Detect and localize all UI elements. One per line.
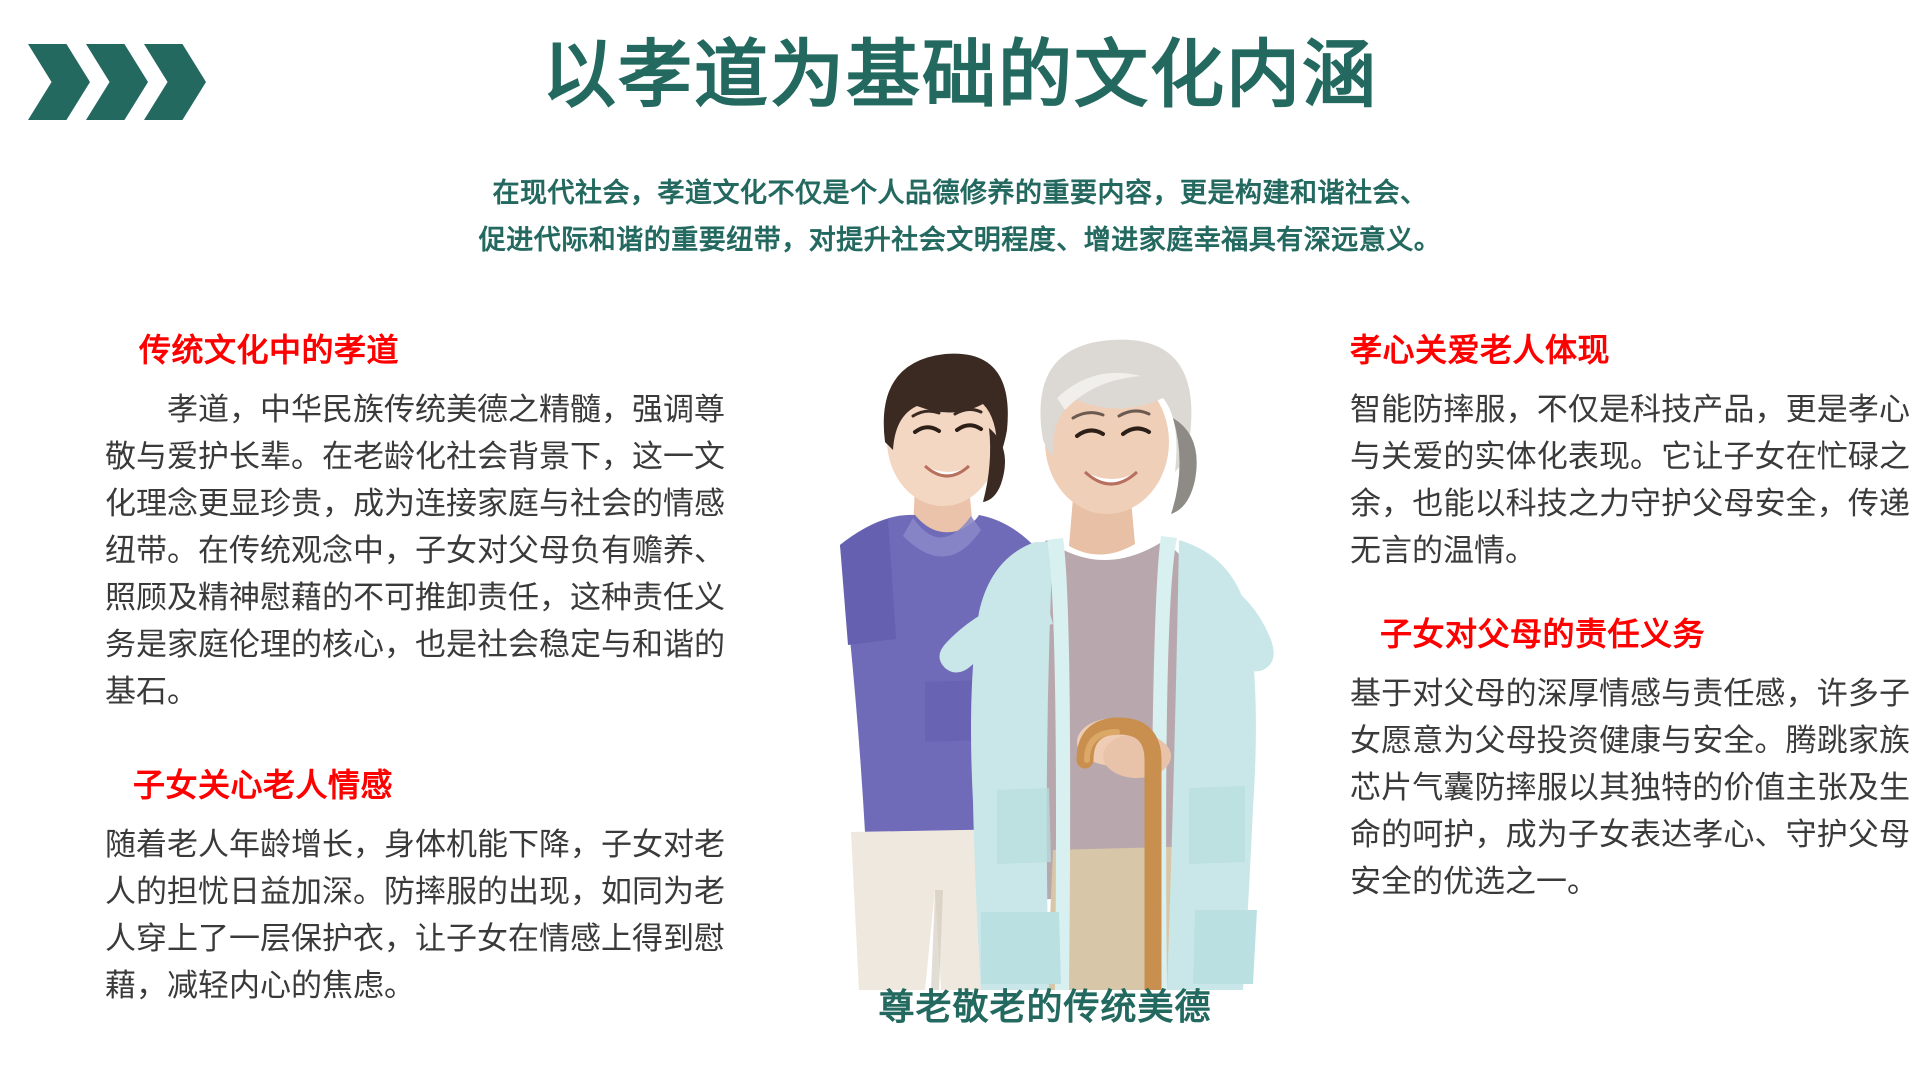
- right-column: 孝心关爱老人体现 智能防摔服，不仅是科技产品，更是孝心与关爱的实体化表现。它让子…: [1350, 330, 1910, 911]
- section-traditional-filial-piety: 传统文化中的孝道 孝道，中华民族传统美德之精髓，强调尊敬与爱护长辈。在老龄化社会…: [105, 330, 725, 715]
- section-heading-children-care-emotion: 子女关心老人情感: [105, 765, 725, 807]
- right-column-spacer: [1350, 580, 1910, 614]
- caregiver-and-elder-photo-illustration: [785, 290, 1305, 990]
- section-heading-filial-love-expression: 孝心关爱老人体现: [1350, 330, 1910, 372]
- center-photo: [785, 290, 1305, 990]
- slide-root: 以孝道为基础的文化内涵 在现代社会，孝道文化不仅是个人品德修养的重要内容，更是构…: [0, 0, 1920, 1080]
- page-subtitle-line-1: 在现代社会，孝道文化不仅是个人品德修养的重要内容，更是构建和谐社会、: [0, 170, 1920, 217]
- photo-caption: 尊老敬老的传统美德: [785, 978, 1305, 1030]
- section-body-filial-love-expression: 智能防摔服，不仅是科技产品，更是孝心与关爱的实体化表现。它让子女在忙碌之余，也能…: [1350, 386, 1910, 574]
- section-heading-children-duty-to-parents: 子女对父母的责任义务: [1350, 614, 1910, 656]
- section-body-children-duty-to-parents: 基于对父母的深厚情感与责任感，许多子女愿意为父母投资健康与安全。腾跳家族芯片气囊…: [1350, 670, 1910, 906]
- page-subtitle: 在现代社会，孝道文化不仅是个人品德修养的重要内容，更是构建和谐社会、 促进代际和…: [0, 170, 1920, 265]
- section-children-duty-to-parents: 子女对父母的责任义务 基于对父母的深厚情感与责任感，许多子女愿意为父母投资健康与…: [1350, 614, 1910, 905]
- section-heading-traditional-filial-piety: 传统文化中的孝道: [105, 330, 725, 372]
- left-column-spacer: [105, 721, 725, 765]
- section-children-care-emotion: 子女关心老人情感 随着老人年龄增长，身体机能下降，子女对老人的担忧日益加深。防摔…: [105, 765, 725, 1009]
- left-column: 传统文化中的孝道 孝道，中华民族传统美德之精髓，强调尊敬与爱护长辈。在老龄化社会…: [105, 330, 725, 1015]
- section-body-traditional-filial-piety: 孝道，中华民族传统美德之精髓，强调尊敬与爱护长辈。在老龄化社会背景下，这一文化理…: [105, 386, 725, 716]
- page-title: 以孝道为基础的文化内涵: [0, 32, 1920, 117]
- section-filial-love-expression: 孝心关爱老人体现 智能防摔服，不仅是科技产品，更是孝心与关爱的实体化表现。它让子…: [1350, 330, 1910, 574]
- section-body-children-care-emotion: 随着老人年龄增长，身体机能下降，子女对老人的担忧日益加深。防摔服的出现，如同为老…: [105, 821, 725, 1009]
- page-subtitle-line-2: 促进代际和谐的重要纽带，对提升社会文明程度、增进家庭幸福具有深远意义。: [0, 217, 1920, 264]
